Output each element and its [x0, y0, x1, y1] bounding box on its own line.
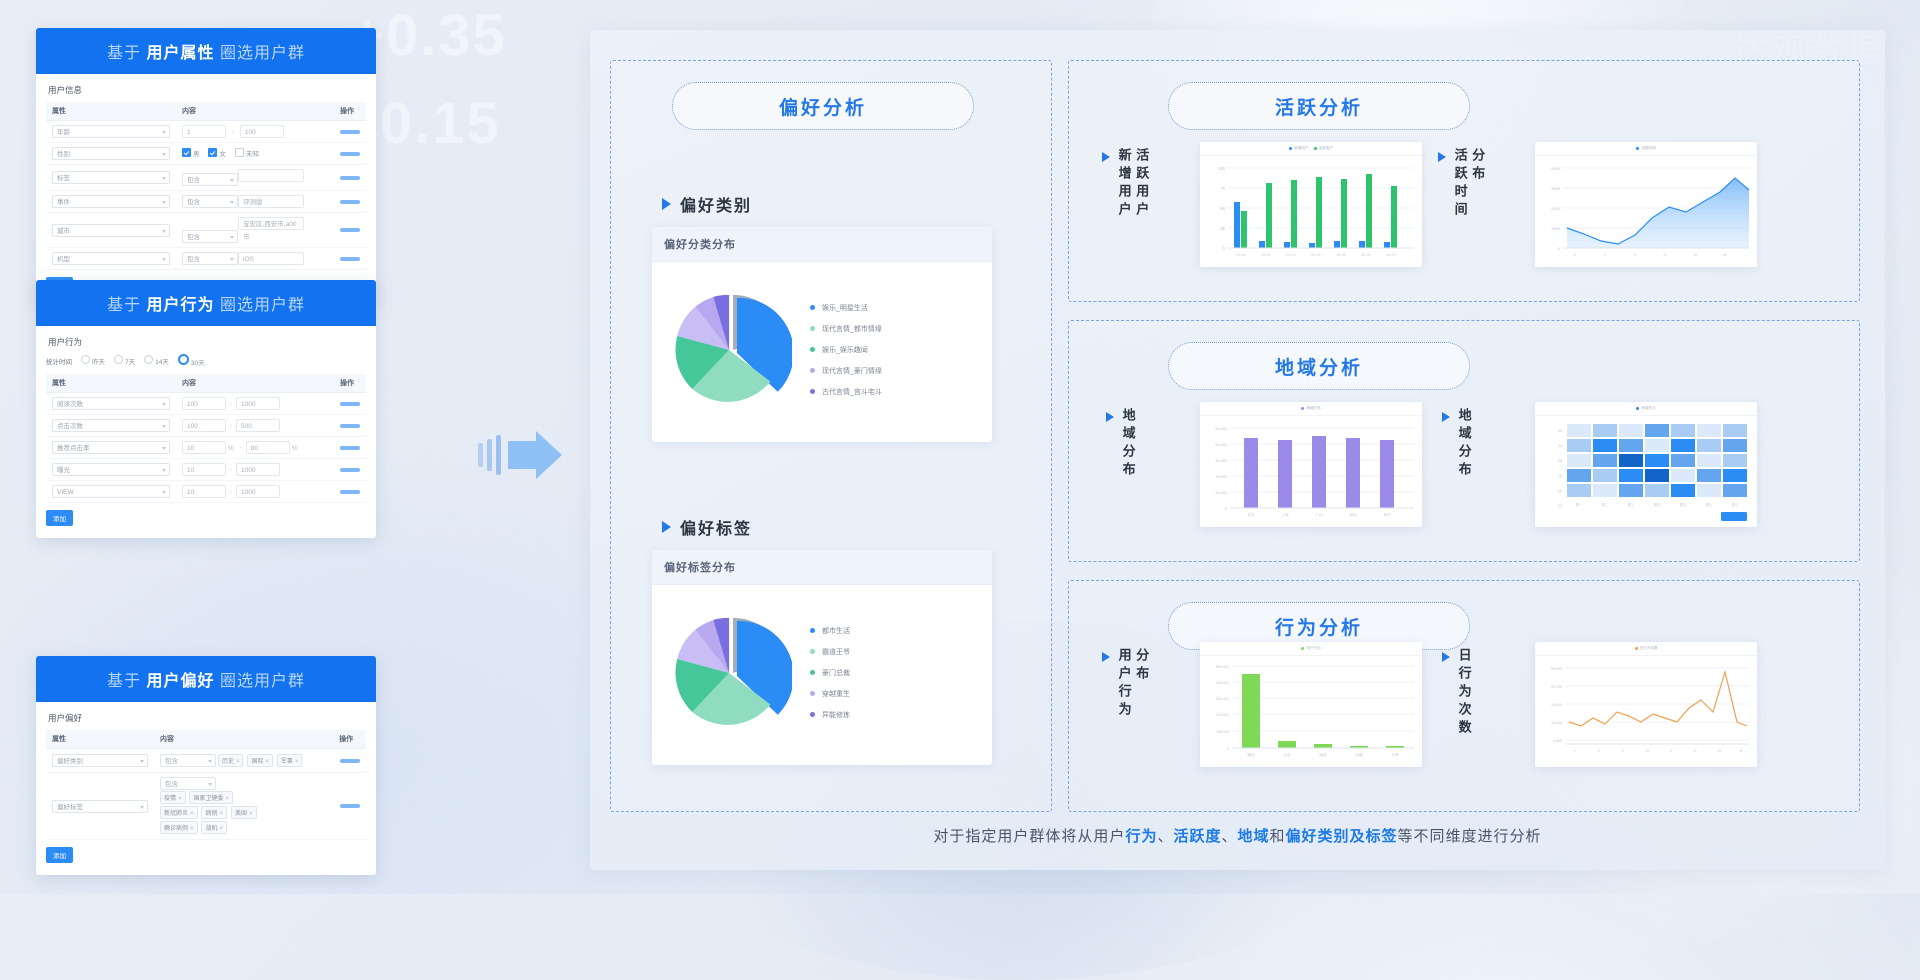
- preference-tag-legend: 都市生活 霸道王爷 豪门总裁 穿越重生 异能修炼: [810, 626, 850, 720]
- user-behavior-card: 基于 用户行为 圈选用户群 用户行为 统计时间 昨天 7天 14天 30天 属性…: [36, 280, 376, 538]
- range-max-input[interactable]: 500: [236, 419, 280, 432]
- tag-item[interactable]: 病例×: [201, 806, 227, 819]
- svg-text:20,000: 20,000: [1551, 685, 1562, 689]
- attr-select[interactable]: 偏好类别: [52, 754, 148, 767]
- tag-remove-icon[interactable]: ×: [295, 759, 299, 765]
- tag-remove-icon[interactable]: ×: [226, 796, 230, 802]
- tag-item[interactable]: 国际×: [247, 754, 273, 767]
- svg-text:深圳: 深圳: [1349, 512, 1357, 517]
- caption-highlight: 偏好类别及标签: [1286, 828, 1398, 845]
- caption-part: 和: [1270, 828, 1286, 845]
- chart-legend: 用户行为: [1200, 642, 1422, 656]
- range-max-input[interactable]: 1000: [236, 397, 280, 410]
- operator-select[interactable]: 包含: [182, 252, 238, 265]
- tag-list: 疫情× 国家卫健委× 新冠肺炎× 病例× 美国× 确诊病例× 战机×: [160, 790, 272, 835]
- svg-text:12: 12: [1558, 474, 1562, 478]
- table-row: 机型 包含iOS: [46, 248, 366, 270]
- table-row: 阅读次数 100-1000: [46, 393, 366, 415]
- column-header-action: 操作: [334, 374, 366, 393]
- table-row: 偏好类别 包含 历史× 国际× 军事×: [46, 749, 366, 773]
- card-header: 基于 用户行为 圈选用户群: [36, 280, 376, 326]
- behavior-distribution-label: 用户行为 分布: [1102, 648, 1203, 720]
- attr-select[interactable]: VIEW: [52, 485, 170, 498]
- flow-arrow-icon: [478, 425, 568, 485]
- preference-analysis-pill: 偏好分析: [672, 82, 974, 130]
- legend-item: 异能修炼: [810, 710, 850, 720]
- column-header-attr: 属性: [46, 102, 176, 121]
- row-action-button[interactable]: [340, 152, 360, 156]
- time-option-label: 14天: [155, 359, 169, 366]
- svg-text:0: 0: [1225, 507, 1227, 511]
- behavior-bar-chart-panel: 用户行为 500,000400,000300,000 200,000100,00…: [1200, 642, 1422, 767]
- legend-item: 豪门总裁: [810, 668, 850, 678]
- svg-text:3000: 3000: [1551, 186, 1561, 191]
- svg-text:200,000: 200,000: [1216, 713, 1229, 717]
- vertical-label: 分布: [1135, 648, 1149, 720]
- stage-caption: 对于指定用户群体将从用户行为、活跃度、地域和偏好类别及标签等不同维度进行分析: [590, 825, 1885, 846]
- attr-select[interactable]: 点击次数: [52, 419, 170, 432]
- svg-text:周四: 周四: [1654, 502, 1661, 507]
- checkbox-icon: [182, 148, 191, 157]
- svg-text:0: 0: [1574, 253, 1576, 257]
- card-title-suffix: 圈选用户群: [220, 45, 305, 62]
- tag-item[interactable]: 美国×: [231, 806, 257, 819]
- card-title-prefix: 基于: [107, 673, 141, 690]
- range-max-input[interactable]: 80: [246, 441, 290, 454]
- card-title-prefix: 基于: [107, 297, 141, 314]
- column-header-content: 内容: [176, 102, 334, 121]
- tag-item[interactable]: 战机×: [201, 821, 227, 834]
- region-heatmap-panel: 地域热力 000408 121620 周一周二周三 周四周五周六: [1535, 402, 1757, 527]
- vertical-label: 地域分布: [1457, 408, 1471, 480]
- time-option-label: 昨天: [92, 359, 105, 366]
- svg-text:25: 25: [1220, 226, 1225, 231]
- svg-text:03-05: 03-05: [1336, 253, 1345, 257]
- svg-text:25: 25: [1717, 749, 1721, 753]
- svg-text:分享: 分享: [1391, 752, 1399, 757]
- region-heatmap-chart: 000408 121620 周一周二周三 周四周五周六 周日: [1535, 416, 1757, 527]
- range-min-input[interactable]: 10: [182, 463, 226, 476]
- card-title-suffix: 圈选用户群: [220, 297, 305, 314]
- caption-highlight: 行为: [1125, 828, 1157, 845]
- row-action-button[interactable]: [340, 402, 360, 406]
- region-distribution-label-left: 地域分布: [1106, 408, 1176, 480]
- analysis-stage: 偏好分析 偏好类别 偏好分类分布 娱乐_明星生活 现代言情_都市情缘: [590, 30, 1885, 870]
- tag-remove-icon[interactable]: ×: [220, 811, 224, 817]
- vertical-label: 用户行为: [1117, 648, 1131, 720]
- tag-item[interactable]: 历史×: [218, 754, 244, 767]
- svg-text:周三: 周三: [1628, 502, 1635, 507]
- legend-item: 现代言情_都市情缘: [810, 324, 882, 334]
- time-range-radio-group: 统计时间 昨天 7天 14天 30天: [46, 354, 366, 367]
- value-input[interactable]: [238, 169, 304, 182]
- range-min-input[interactable]: 10: [182, 441, 226, 454]
- svg-text:点击: 点击: [1283, 752, 1291, 757]
- attr-select[interactable]: 性别: [52, 147, 170, 160]
- svg-text:0: 0: [1223, 246, 1226, 251]
- attribute-table: 属性 内容 操作 年龄 1 - 100 性别 男: [46, 102, 366, 270]
- checkbox-label: 女: [219, 148, 226, 158]
- svg-text:500,000: 500,000: [1216, 665, 1229, 669]
- svg-text:5,000: 5,000: [1553, 739, 1562, 743]
- vertical-label: 日行为次数: [1457, 648, 1471, 738]
- range-dash: -: [228, 129, 238, 136]
- table-row: 曝光 10-1000: [46, 459, 366, 481]
- preference-category-panel: 偏好分类分布 娱乐_明星生活 现代言情_都市情缘 娱乐_娱乐趣闻 现代言情_豪门…: [652, 227, 992, 442]
- user-attribute-card: 基于 用户属性 圈选用户群 用户信息 属性 内容 操作 年龄 1 - 100: [36, 28, 376, 305]
- svg-text:16: 16: [1693, 253, 1697, 257]
- vertical-label: 新增用户: [1117, 148, 1131, 220]
- checkbox-option[interactable]: 未知: [235, 148, 259, 158]
- row-action-button[interactable]: [340, 424, 360, 428]
- triangle-icon: [1102, 152, 1110, 162]
- tag-item[interactable]: 确诊病例×: [160, 821, 198, 834]
- value-input[interactable]: 宝安区,西安市,a00市: [238, 217, 304, 230]
- svg-text:0: 0: [1558, 246, 1561, 251]
- attr-select[interactable]: 年龄: [52, 125, 170, 138]
- section-label: 用户偏好: [48, 712, 366, 724]
- tag-remove-icon[interactable]: ×: [265, 759, 269, 765]
- triangle-icon: [662, 198, 671, 210]
- svg-text:00: 00: [1558, 429, 1562, 433]
- row-action-button[interactable]: [340, 759, 360, 763]
- svg-text:04: 04: [1558, 444, 1562, 448]
- tag-item[interactable]: 新冠肺炎×: [160, 806, 198, 819]
- svg-text:10,000: 10,000: [1551, 721, 1562, 725]
- svg-text:阅读: 阅读: [1319, 752, 1327, 757]
- legend-item: 穿越重生: [810, 689, 850, 699]
- table-row: 事件 包含评测版: [46, 191, 366, 213]
- caption-highlight: 地域: [1238, 828, 1270, 845]
- legend-item: 古代言情_宫斗宅斗: [810, 387, 882, 397]
- section-label: 用户行为: [48, 336, 366, 348]
- svg-text:03-01: 03-01: [1236, 253, 1245, 257]
- triangle-icon: [1102, 652, 1110, 662]
- svg-text:收藏: 收藏: [1355, 752, 1363, 757]
- daily-behavior-line-panel: 日行为次数 25,00020,00015,000 10,0005,000 159…: [1535, 642, 1757, 767]
- chart-legend: 活跃时间: [1535, 142, 1757, 156]
- tag-remove-icon[interactable]: ×: [220, 826, 224, 832]
- region-analysis-pill: 地域分析: [1168, 342, 1470, 390]
- table-row: VIEW 10-1000: [46, 481, 366, 503]
- add-condition-button[interactable]: 添加: [46, 510, 73, 526]
- chart-legend: 地域热力: [1535, 402, 1757, 416]
- attr-select[interactable]: 标签: [52, 171, 170, 184]
- behavior-bar-chart: 500,000400,000300,000 200,000100,0000 曝光…: [1200, 656, 1422, 767]
- card-title-highlight: 用户属性: [146, 45, 214, 62]
- svg-text:1000: 1000: [1551, 226, 1561, 231]
- legend-item: 现代言情_豪门情缘: [810, 366, 882, 376]
- operator-select[interactable]: 包含: [182, 230, 238, 243]
- table-row: 年龄 1 - 100: [46, 121, 366, 143]
- caption-highlight: 活跃度: [1173, 828, 1221, 845]
- legend-item: 都市生活: [810, 626, 850, 636]
- row-action-button[interactable]: [340, 490, 360, 494]
- svg-text:杭州: 杭州: [1383, 512, 1391, 517]
- radio-icon: [114, 355, 123, 364]
- range-max-input[interactable]: 100: [240, 125, 284, 138]
- svg-text:周六: 周六: [1706, 502, 1713, 507]
- table-row: 点击次数 100-500: [46, 415, 366, 437]
- checkbox-label: 男: [193, 148, 200, 158]
- tag-list: 历史× 国际× 军事×: [218, 758, 305, 765]
- vertical-label: 活跃用户: [1135, 148, 1149, 220]
- caption-part: 、: [1221, 828, 1237, 845]
- svg-text:0: 0: [1227, 747, 1229, 751]
- card-title-highlight: 用户行为: [146, 297, 214, 314]
- row-action-button[interactable]: [340, 446, 360, 450]
- caption-part: 、: [1157, 828, 1173, 845]
- row-action-button[interactable]: [340, 257, 360, 261]
- preference-category-heading: 偏好类别: [662, 192, 752, 216]
- svg-text:20: 20: [1558, 504, 1562, 508]
- vertical-label: 分布: [1471, 148, 1485, 220]
- tag-item[interactable]: 国家卫健委×: [189, 791, 233, 804]
- operator-select[interactable]: 包含: [182, 173, 238, 186]
- range-max-input[interactable]: 1000: [236, 463, 280, 476]
- chart-legend: 地域分布: [1200, 402, 1422, 416]
- svg-text:12: 12: [1663, 253, 1667, 257]
- svg-text:周日: 周日: [1732, 502, 1739, 507]
- preference-table: 属性 内容 操作 偏好类别 包含 历史× 国际× 军事×: [46, 730, 366, 840]
- row-action-button[interactable]: [340, 176, 360, 180]
- column-header-action: 操作: [333, 730, 366, 749]
- vertical-label: 活跃时间: [1453, 148, 1467, 220]
- checkbox-option[interactable]: 女: [208, 148, 226, 158]
- svg-text:8: 8: [1634, 253, 1636, 257]
- svg-text:100: 100: [1218, 166, 1226, 171]
- svg-text:15,000: 15,000: [1551, 703, 1562, 707]
- svg-text:40,000: 40,000: [1215, 459, 1227, 463]
- row-action-button[interactable]: [340, 228, 360, 232]
- heading-label: 偏好类别: [680, 192, 752, 216]
- chart-legend: 日行为次数: [1535, 642, 1757, 656]
- table-row: 性别 男 女 未知: [46, 143, 366, 165]
- svg-text:20: 20: [1723, 253, 1727, 257]
- tag-remove-icon[interactable]: ×: [178, 796, 182, 802]
- svg-text:4000: 4000: [1551, 166, 1561, 171]
- svg-text:300,000: 300,000: [1216, 697, 1229, 701]
- card-title-prefix: 基于: [107, 45, 141, 62]
- triangle-icon: [662, 521, 671, 533]
- operator-select[interactable]: 包含: [160, 777, 216, 790]
- column-header-content: 内容: [176, 374, 334, 393]
- percent-unit: %: [292, 445, 298, 452]
- svg-text:100,000: 100,000: [1216, 730, 1229, 734]
- svg-text:03-02: 03-02: [1261, 253, 1270, 257]
- value-input[interactable]: 评测版: [238, 195, 304, 208]
- range-min-input[interactable]: 1: [182, 125, 226, 138]
- tag-item[interactable]: 军事×: [277, 754, 303, 767]
- triangle-icon: [1442, 652, 1450, 662]
- svg-text:上海: 上海: [1281, 512, 1289, 517]
- svg-text:16: 16: [1558, 489, 1562, 493]
- column-header-attr: 属性: [46, 730, 154, 749]
- caption-part: 等不同维度进行分析: [1398, 828, 1542, 845]
- card-header: 基于 用户属性 圈选用户群: [36, 28, 376, 74]
- region-distribution-label-right: 地域分布: [1442, 408, 1512, 480]
- checkbox-label: 未知: [246, 148, 259, 158]
- legend-item: 娱乐_明星生活: [810, 303, 882, 313]
- svg-text:曝光: 曝光: [1247, 752, 1255, 757]
- activity-time-label: 活跃时间 分布: [1438, 148, 1539, 220]
- svg-text:03-03: 03-03: [1286, 253, 1295, 257]
- svg-text:周五: 周五: [1680, 502, 1687, 507]
- triangle-icon: [1442, 412, 1450, 422]
- svg-text:08: 08: [1558, 459, 1562, 463]
- range-min-input[interactable]: 100: [182, 419, 226, 432]
- preference-tag-panel: 偏好标签分布 都市生活 霸道王爷 豪门总裁 穿越重生 异能修炼: [652, 550, 992, 765]
- attr-select[interactable]: 偏好标签: [52, 800, 148, 813]
- row-action-button[interactable]: [340, 200, 360, 204]
- svg-text:400,000: 400,000: [1216, 681, 1229, 685]
- daily-behavior-count-label: 日行为次数: [1442, 648, 1525, 738]
- preference-category-pie-chart: [674, 291, 792, 409]
- svg-text:50: 50: [1220, 206, 1225, 211]
- svg-text:21: 21: [1693, 749, 1697, 753]
- svg-text:17: 17: [1669, 749, 1673, 753]
- range-max-input[interactable]: 1000: [236, 485, 280, 498]
- svg-text:广州: 广州: [1315, 512, 1323, 517]
- chart-legend: 新增用户 活跃用户: [1200, 142, 1422, 156]
- activity-analysis-pill: 活跃分析: [1168, 82, 1470, 130]
- radio-icon: [81, 355, 90, 364]
- radio-icon: [178, 354, 189, 365]
- svg-text:29: 29: [1739, 749, 1743, 753]
- svg-text:03-06: 03-06: [1361, 253, 1370, 257]
- daily-behavior-line-chart: 25,00020,00015,000 10,0005,000 159 13172…: [1535, 656, 1757, 767]
- vertical-label: 地域分布: [1121, 408, 1135, 480]
- tag-remove-icon[interactable]: ×: [236, 759, 240, 765]
- svg-text:20,000: 20,000: [1215, 491, 1227, 495]
- tag-remove-icon[interactable]: ×: [190, 811, 194, 817]
- caption-part: 对于指定用户群体将从用户: [933, 828, 1125, 845]
- checkbox-icon: [208, 148, 217, 157]
- operator-select[interactable]: 包含: [182, 195, 238, 208]
- time-option-label: 7天: [125, 359, 135, 366]
- svg-text:25,000: 25,000: [1551, 667, 1562, 671]
- row-action-button[interactable]: [340, 130, 360, 134]
- region-bar-chart-panel: 地域分布 60,00050,00040,000 30,00020,0000: [1200, 402, 1422, 527]
- column-header-attr: 属性: [46, 374, 176, 393]
- add-condition-button[interactable]: 添加: [46, 847, 73, 863]
- panel-title: 偏好标签分布: [652, 550, 992, 585]
- preference-tag-pie-chart: [674, 614, 792, 732]
- activity-area-chart: 40003000 200010000 048 121620: [1535, 156, 1757, 267]
- attr-select[interactable]: 推荐点击率: [52, 441, 170, 454]
- svg-text:9: 9: [1622, 749, 1624, 753]
- percent-unit: %: [228, 445, 234, 452]
- tag-remove-icon[interactable]: ×: [249, 811, 253, 817]
- svg-text:4: 4: [1604, 253, 1606, 257]
- table-row: 推荐点击率 10%-80%: [46, 437, 366, 459]
- checkbox-icon: [235, 148, 244, 157]
- activity-area-chart-panel: 活跃时间 40003000 200010000: [1535, 142, 1757, 267]
- attr-select[interactable]: 事件: [52, 195, 170, 208]
- svg-text:60,000: 60,000: [1215, 427, 1227, 431]
- section-label: 用户信息: [48, 84, 366, 96]
- attr-select[interactable]: 曝光: [52, 463, 170, 476]
- svg-text:13: 13: [1645, 749, 1649, 753]
- svg-text:75: 75: [1220, 186, 1225, 191]
- column-header-action: 操作: [334, 102, 366, 121]
- range-min-input[interactable]: 100: [182, 397, 226, 410]
- svg-text:1: 1: [1574, 749, 1576, 753]
- tag-item[interactable]: 疫情×: [160, 791, 186, 804]
- time-option[interactable]: 7天: [114, 355, 135, 366]
- triangle-icon: [1438, 152, 1446, 162]
- tag-remove-icon[interactable]: ×: [190, 826, 194, 832]
- user-preference-card: 基于 用户偏好 圈选用户群 用户偏好 属性 内容 操作 偏好类别 包含 历史× …: [36, 656, 376, 875]
- svg-text:03-07: 03-07: [1386, 253, 1395, 257]
- time-option[interactable]: 昨天: [81, 355, 105, 366]
- card-header: 基于 用户偏好 圈选用户群: [36, 656, 376, 702]
- attr-select[interactable]: 阅读次数: [52, 397, 170, 410]
- table-row: 偏好标签 包含 疫情× 国家卫健委× 新冠肺炎× 病例× 美国× 确诊病例× 战…: [46, 773, 366, 840]
- card-title-highlight: 用户偏好: [146, 673, 214, 690]
- svg-text:2000: 2000: [1551, 206, 1561, 211]
- attr-select[interactable]: 城市: [52, 224, 170, 237]
- behavior-table: 属性 内容 操作 阅读次数 100-1000 点击次数 100-500 推荐点击…: [46, 374, 366, 503]
- heading-label: 偏好标签: [680, 515, 752, 539]
- legend-item: 霸道王爷: [810, 647, 850, 657]
- table-row: 标签 包含: [46, 165, 366, 191]
- svg-text:5: 5: [1598, 749, 1600, 753]
- activity-bar-chart: 10075 50250 03-0103-0203-03 03-0403-0503…: [1200, 156, 1422, 267]
- svg-text:周一: 周一: [1576, 502, 1583, 507]
- radio-icon: [144, 355, 153, 364]
- row-action-button[interactable]: [340, 804, 360, 808]
- time-option[interactable]: 14天: [144, 355, 169, 366]
- triangle-icon: [1106, 412, 1114, 422]
- operator-select[interactable]: 包含: [160, 754, 216, 767]
- checkbox-option[interactable]: 男: [182, 148, 200, 158]
- column-header-content: 内容: [154, 730, 333, 749]
- row-action-button[interactable]: [340, 468, 360, 472]
- svg-text:30,000: 30,000: [1215, 475, 1227, 479]
- preference-category-legend: 娱乐_明星生活 现代言情_都市情缘 娱乐_娱乐趣闻 现代言情_豪门情缘 古代言情…: [810, 303, 882, 397]
- attr-select[interactable]: 机型: [52, 252, 170, 265]
- legend-item: 娱乐_娱乐趣闻: [810, 345, 882, 355]
- value-input[interactable]: iOS: [238, 252, 304, 265]
- svg-text:50,000: 50,000: [1215, 443, 1227, 447]
- svg-text:03-04: 03-04: [1311, 253, 1320, 257]
- panel-title: 偏好分类分布: [652, 227, 992, 262]
- time-option[interactable]: 30天: [178, 354, 205, 367]
- activity-bar-chart-panel: 新增用户 活跃用户 10075 50250: [1200, 142, 1422, 267]
- region-bar-chart: 60,00050,00040,000 30,00020,0000 北京上海广州 …: [1200, 416, 1422, 527]
- table-row: 城市 包含宝安区,西安市,a00市: [46, 213, 366, 248]
- svg-text:周二: 周二: [1602, 502, 1609, 507]
- svg-text:北京: 北京: [1247, 512, 1255, 517]
- time-option-label: 30天: [191, 360, 205, 367]
- preference-tag-heading: 偏好标签: [662, 515, 752, 539]
- card-title-suffix: 圈选用户群: [220, 673, 305, 690]
- range-min-input[interactable]: 10: [182, 485, 226, 498]
- time-range-label: 统计时间: [46, 356, 72, 366]
